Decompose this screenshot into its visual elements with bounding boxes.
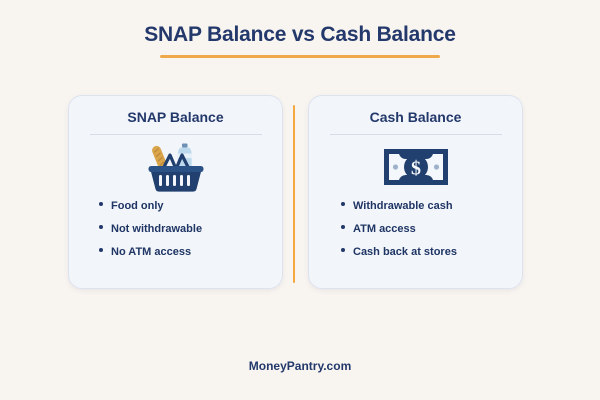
- footer-brand: MoneyPantry.com: [0, 359, 600, 373]
- dollar-bill-icon: $: [383, 146, 449, 188]
- bullet-dot-icon: [341, 202, 345, 206]
- bullet-list-snap: Food only Not withdrawable No ATM access: [69, 200, 282, 259]
- icon-area-cash: $: [309, 138, 522, 196]
- list-item-label: Food only: [111, 200, 164, 213]
- bullet-dot-icon: [99, 225, 103, 229]
- svg-text:$: $: [411, 158, 421, 180]
- list-item: Food only: [99, 200, 282, 213]
- comparison-cards: SNAP Balance: [0, 95, 600, 291]
- card-rule-snap: [90, 134, 262, 135]
- list-item-label: Not withdrawable: [111, 223, 202, 236]
- list-item-label: Cash back at stores: [353, 246, 457, 259]
- card-title-snap: SNAP Balance: [69, 109, 282, 125]
- bullet-dot-icon: [99, 248, 103, 252]
- title-underline: [160, 55, 440, 58]
- card-cash-balance: Cash Balance $ Withdrawa: [308, 95, 523, 289]
- icon-area-snap: [69, 138, 282, 196]
- bullet-dot-icon: [341, 225, 345, 229]
- bullet-list-cash: Withdrawable cash ATM access Cash back a…: [309, 200, 522, 259]
- list-item-label: Withdrawable cash: [353, 200, 453, 213]
- list-item: No ATM access: [99, 246, 282, 259]
- list-item: Withdrawable cash: [341, 200, 522, 213]
- list-item: Not withdrawable: [99, 223, 282, 236]
- card-title-cash: Cash Balance: [309, 109, 522, 125]
- list-item: ATM access: [341, 223, 522, 236]
- title-block: SNAP Balance vs Cash Balance: [0, 22, 600, 58]
- card-rule-cash: [330, 134, 502, 135]
- grocery-basket-icon: [145, 141, 207, 193]
- list-item-label: ATM access: [353, 223, 416, 236]
- card-snap-balance: SNAP Balance: [68, 95, 283, 289]
- bullet-dot-icon: [99, 202, 103, 206]
- vertical-divider: [293, 105, 295, 283]
- list-item: Cash back at stores: [341, 246, 522, 259]
- list-item-label: No ATM access: [111, 246, 191, 259]
- page-title: SNAP Balance vs Cash Balance: [0, 22, 600, 48]
- bullet-dot-icon: [341, 248, 345, 252]
- infographic-page: SNAP Balance vs Cash Balance SNAP Balanc…: [0, 0, 600, 400]
